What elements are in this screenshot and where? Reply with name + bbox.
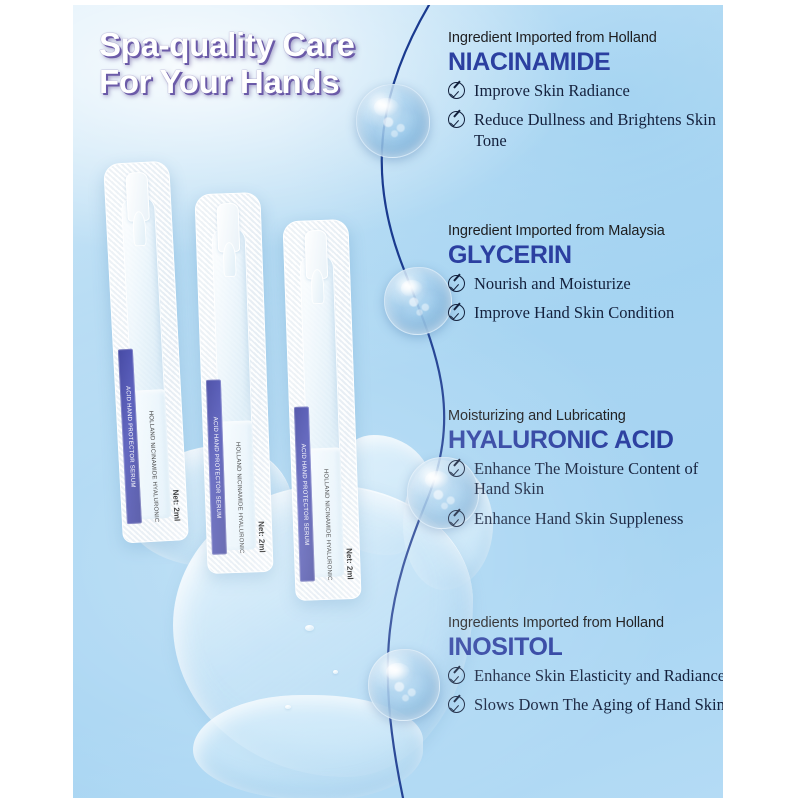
- infographic-poster: Net: 2ml HOLLAND NICINAMIDE HYALURONIC A…: [0, 0, 800, 800]
- poster-artboard: Net: 2ml HOLLAND NICINAMIDE HYALURONIC A…: [73, 5, 723, 798]
- section-kicker: Ingredient Imported from Malaysia: [448, 223, 723, 239]
- water-bubble-2: [384, 267, 452, 335]
- ampoule-label-1: Net: 2ml HOLLAND NICINAMIDE HYALURONIC A…: [118, 347, 183, 524]
- benefit-list: Nourish and Moisturize Improve Hand Skin…: [448, 274, 723, 323]
- benefit-text: Enhance The Moisture Content of Hand Ski…: [474, 459, 698, 498]
- ampoule-sachet-2: Net: 2ml HOLLAND NICINAMIDE HYALURONIC A…: [194, 192, 273, 574]
- benefit-text: Improve Skin Radiance: [474, 81, 630, 100]
- benefit-text: Reduce Dullness and Brightens Skin Tone: [474, 110, 716, 149]
- label-ingredient-line: HOLLAND NICINAMIDE HYALURONIC: [224, 379, 255, 555]
- label-ingredient-line: HOLLAND NICINAMIDE HYALURONIC: [312, 406, 343, 582]
- label-net-volume: Net: 2ml: [340, 405, 356, 580]
- ampoule-sachet-3: Net: 2ml HOLLAND NICINAMIDE HYALURONIC A…: [282, 219, 361, 601]
- check-circle-icon: [448, 82, 465, 99]
- benefit-list: Enhance Skin Elasticity and Radiance Slo…: [448, 666, 723, 715]
- benefit-item: Reduce Dullness and Brightens Skin Tone: [448, 110, 723, 150]
- ingredient-section-glycerin: Ingredient Imported from Malaysia GLYCER…: [448, 223, 723, 333]
- benefit-text: Improve Hand Skin Condition: [474, 303, 674, 322]
- benefit-item: Improve Hand Skin Condition: [448, 303, 723, 323]
- section-ingredient-name: NIACINAMIDE: [448, 49, 723, 75]
- ingredient-section-hyaluronic-acid: Moisturizing and Lubricating HYALURONIC …: [448, 408, 723, 538]
- sachet-body-3: Net: 2ml HOLLAND NICINAMIDE HYALURONIC A…: [282, 219, 361, 601]
- benefit-item: Enhance The Moisture Content of Hand Ski…: [448, 459, 723, 499]
- check-circle-icon: [448, 111, 465, 128]
- benefit-list: Enhance The Moisture Content of Hand Ski…: [448, 459, 723, 528]
- section-ingredient-name: HYALURONIC ACID: [448, 427, 723, 453]
- check-circle-icon: [448, 667, 465, 684]
- droplet-small-c: [305, 625, 314, 631]
- droplet-small-d: [333, 670, 338, 674]
- water-bubble-1: [356, 84, 430, 158]
- ingredient-section-inositol: Ingredients Imported from Holland INOSIT…: [448, 615, 723, 725]
- benefit-text: Enhance Hand Skin Suppleness: [474, 509, 683, 528]
- benefit-text: Enhance Skin Elasticity and Radiance: [474, 666, 723, 685]
- benefit-item: Enhance Hand Skin Suppleness: [448, 509, 723, 529]
- droplet-small-e: [285, 705, 291, 709]
- label-net-volume: Net: 2ml: [252, 378, 268, 553]
- ingredient-section-niacinamide: Ingredient Imported from Holland NIACINA…: [448, 30, 723, 160]
- section-ingredient-name: GLYCERIN: [448, 242, 723, 268]
- section-ingredient-name: INOSITOL: [448, 634, 723, 660]
- water-bubble-4: [368, 649, 440, 721]
- check-circle-icon: [448, 460, 465, 477]
- ampoule-label-3: Net: 2ml HOLLAND NICINAMIDE HYALURONIC A…: [294, 405, 356, 582]
- ampoule-sachet-1: Net: 2ml HOLLAND NICINAMIDE HYALURONIC A…: [103, 161, 189, 544]
- check-circle-icon: [448, 510, 465, 527]
- benefit-text: Nourish and Moisturize: [474, 274, 631, 293]
- sachet-body-2: Net: 2ml HOLLAND NICINAMIDE HYALURONIC A…: [194, 192, 273, 574]
- sachet-body-1: Net: 2ml HOLLAND NICINAMIDE HYALURONIC A…: [103, 161, 189, 544]
- benefit-text: Slows Down The Aging of Hand Skin: [474, 695, 723, 714]
- benefit-item: Improve Skin Radiance: [448, 81, 723, 101]
- section-kicker: Ingredient Imported from Holland: [448, 30, 723, 46]
- section-kicker: Moisturizing and Lubricating: [448, 408, 723, 424]
- benefit-item: Enhance Skin Elasticity and Radiance: [448, 666, 723, 686]
- section-kicker: Ingredients Imported from Holland: [448, 615, 723, 631]
- benefit-item: Nourish and Moisturize: [448, 274, 723, 294]
- benefit-list: Improve Skin Radiance Reduce Dullness an…: [448, 81, 723, 150]
- ampoule-label-2: Net: 2ml HOLLAND NICINAMIDE HYALURONIC A…: [206, 378, 268, 555]
- check-circle-icon: [448, 304, 465, 321]
- check-circle-icon: [448, 275, 465, 292]
- check-circle-icon: [448, 696, 465, 713]
- benefit-item: Slows Down The Aging of Hand Skin: [448, 695, 723, 715]
- page-title-line-1: Spa-quality Care: [99, 27, 429, 64]
